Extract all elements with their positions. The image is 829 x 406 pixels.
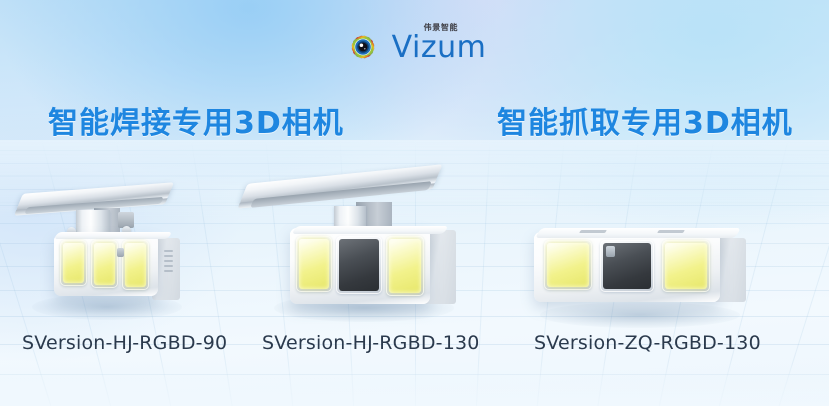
lens-window-1	[296, 236, 332, 292]
product-image-sversion-hj-rgbd-130	[248, 166, 478, 326]
body-top-panel	[291, 226, 448, 234]
vent-slot	[164, 270, 173, 272]
product-image-sversion-zq-rgbd-130	[518, 210, 768, 328]
vizum-flower-eye-logo	[343, 27, 383, 67]
brand-name-cn: 伟景智能	[424, 22, 458, 33]
headline-welding: 智能焊接专用3D相机	[48, 98, 344, 142]
sensor-chip	[606, 246, 615, 257]
body-top-panel	[54, 232, 173, 239]
top-vent-right	[657, 230, 685, 233]
vent-slot	[164, 260, 173, 262]
brand-name-en: Vizum	[392, 33, 487, 63]
vent-slot	[164, 250, 173, 252]
ground-shadow	[540, 302, 740, 328]
lens-window-3	[662, 240, 710, 292]
body-top-panel	[535, 228, 741, 238]
product-image-sversion-hj-rgbd-90	[18, 182, 208, 322]
sensor-chip	[117, 248, 124, 257]
lens-window-1	[60, 240, 87, 286]
product-label-sversion-hj-rgbd-90: SVersion-HJ-RGBD-90	[22, 332, 227, 354]
brand-logo: 伟景智能 Vizum	[0, 18, 829, 76]
brand-wordmark: 伟景智能 Vizum	[392, 31, 487, 63]
lens-window-1	[544, 240, 592, 290]
bottom-fade-band	[0, 360, 829, 406]
promo-banner: 伟景智能 Vizum 智能焊接专用3D相机 智能抓取专用3D相机	[0, 0, 829, 406]
neck-column	[76, 210, 110, 234]
lens-window-2	[336, 236, 382, 294]
product-label-sversion-hj-rgbd-130: SVersion-HJ-RGBD-130	[262, 332, 480, 354]
headline-grasping: 智能抓取专用3D相机	[497, 98, 793, 142]
lens-window-3	[122, 240, 149, 290]
vent-slot	[164, 265, 173, 267]
vent-slot	[164, 255, 173, 257]
lens-window-2	[91, 240, 118, 288]
product-label-sversion-zq-rgbd-130: SVersion-ZQ-RGBD-130	[534, 332, 761, 354]
lens-window-3	[386, 236, 424, 296]
top-vent-left	[579, 230, 607, 233]
